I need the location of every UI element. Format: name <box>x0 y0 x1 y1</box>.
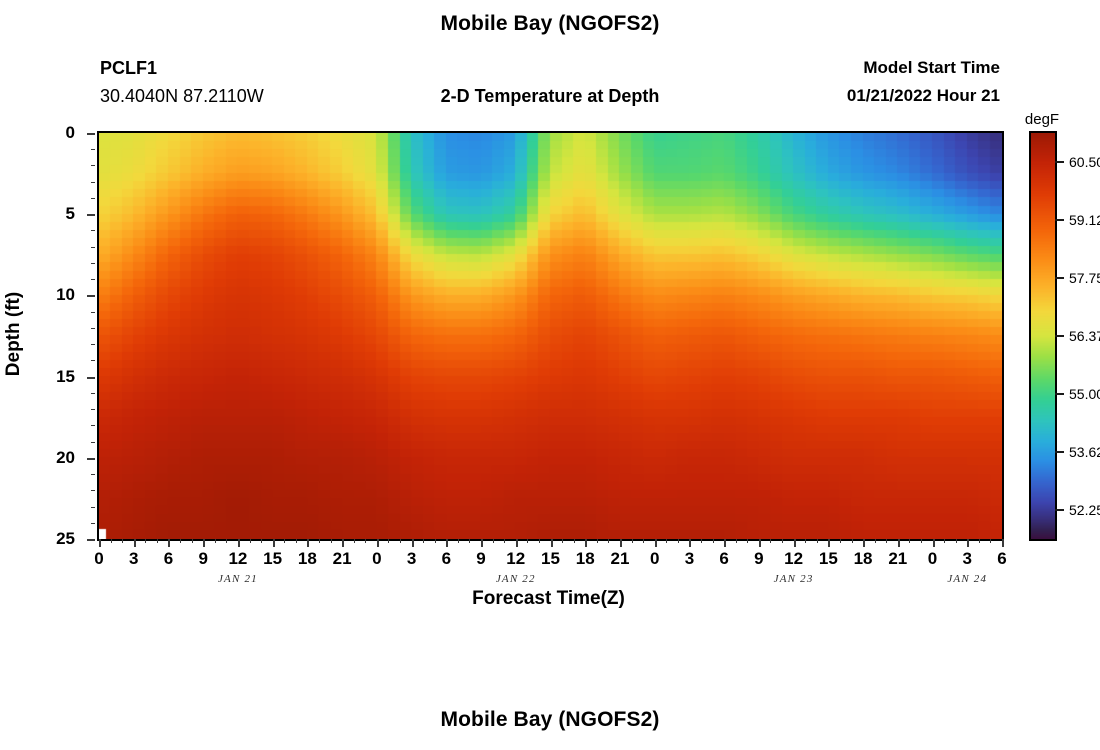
x-minor-tick <box>990 539 991 543</box>
x-minor-tick <box>215 539 216 543</box>
x-major-tick <box>273 539 275 547</box>
x-axis-tick-label: 6 <box>164 549 173 569</box>
colorbar-tick <box>1055 335 1064 337</box>
x-axis-tick-label: 21 <box>888 549 907 569</box>
y-minor-tick <box>91 279 95 280</box>
x-axis-tick-label: 0 <box>94 549 103 569</box>
x-minor-tick <box>435 539 436 543</box>
x-axis-tick-label: 0 <box>650 549 659 569</box>
y-major-tick <box>87 214 95 216</box>
y-major-tick <box>87 458 95 460</box>
x-minor-tick <box>956 539 957 543</box>
x-axis-tick-label: 9 <box>754 549 763 569</box>
x-minor-tick <box>284 539 285 543</box>
x-minor-tick <box>608 539 609 543</box>
x-minor-tick <box>701 539 702 543</box>
x-minor-tick <box>574 539 575 543</box>
x-minor-tick <box>296 539 297 543</box>
y-axis-tick-label: 15 <box>56 367 75 387</box>
x-major-tick <box>412 539 414 547</box>
y-minor-tick <box>91 523 95 524</box>
x-axis-tick-label: 0 <box>928 549 937 569</box>
x-minor-tick <box>180 539 181 543</box>
x-major-tick <box>794 539 796 547</box>
y-minor-tick <box>91 312 95 313</box>
x-axis-tick-label: 3 <box>129 549 138 569</box>
x-minor-tick <box>805 539 806 543</box>
x-axis-tick-label: 6 <box>442 549 451 569</box>
x-minor-tick <box>597 539 598 543</box>
x-minor-tick <box>562 539 563 543</box>
y-minor-tick <box>91 360 95 361</box>
heatmap-plot-area <box>97 131 1004 541</box>
x-minor-tick <box>365 539 366 543</box>
x-minor-tick <box>921 539 922 543</box>
x-minor-tick <box>261 539 262 543</box>
x-major-tick <box>689 539 691 547</box>
x-major-tick <box>516 539 518 547</box>
x-major-tick <box>828 539 830 547</box>
x-major-tick <box>1002 539 1004 547</box>
x-minor-tick <box>493 539 494 543</box>
x-major-tick <box>134 539 136 547</box>
x-axis-tick-label: 12 <box>228 549 247 569</box>
x-major-tick <box>99 539 101 547</box>
colorbar-tick-label: 57.750 <box>1069 270 1100 286</box>
colorbar-tick <box>1055 451 1064 453</box>
x-minor-tick <box>875 539 876 543</box>
x-minor-tick <box>111 539 112 543</box>
y-axis-tick-label: 10 <box>56 285 75 305</box>
x-axis-tick-label: 3 <box>407 549 416 569</box>
x-major-tick <box>481 539 483 547</box>
x-minor-tick <box>354 539 355 543</box>
temperature-heatmap <box>99 133 1002 539</box>
x-axis-tick-label: 9 <box>198 549 207 569</box>
x-minor-tick <box>423 539 424 543</box>
x-axis-date-label: JAN 23 <box>774 573 814 585</box>
x-minor-tick <box>817 539 818 543</box>
y-axis-tick-label: 25 <box>56 529 75 549</box>
x-axis-tick-label: 18 <box>298 549 317 569</box>
x-minor-tick <box>504 539 505 543</box>
y-minor-tick <box>91 230 95 231</box>
x-axis-tick-label: 21 <box>333 549 352 569</box>
colorbar-units-label: degF <box>1007 111 1077 128</box>
colorbar-tick-label: 53.625 <box>1069 444 1100 460</box>
y-minor-tick <box>91 182 95 183</box>
colorbar-tick-label: 60.500 <box>1069 154 1100 170</box>
x-minor-tick <box>192 539 193 543</box>
x-minor-tick <box>713 539 714 543</box>
x-minor-tick <box>643 539 644 543</box>
y-axis-title: Depth (ft) <box>3 292 25 376</box>
y-minor-tick <box>91 393 95 394</box>
x-minor-tick <box>145 539 146 543</box>
x-major-tick <box>168 539 170 547</box>
x-minor-tick <box>122 539 123 543</box>
x-minor-tick <box>678 539 679 543</box>
page-title: Mobile Bay (NGOFS2) <box>0 12 1100 36</box>
x-major-tick <box>203 539 205 547</box>
colorbar-ticks: 60.50059.12557.75056.37555.00053.62552.2… <box>1031 133 1100 539</box>
y-minor-tick <box>91 247 95 248</box>
x-axis-title: Forecast Time(Z) <box>97 588 1000 610</box>
x-major-tick <box>342 539 344 547</box>
x-minor-tick <box>747 539 748 543</box>
x-minor-tick <box>840 539 841 543</box>
x-minor-tick <box>250 539 251 543</box>
colorbar-tick-label: 59.125 <box>1069 212 1100 228</box>
x-minor-tick <box>157 539 158 543</box>
y-minor-tick <box>91 344 95 345</box>
x-axis-tick-label: 15 <box>263 549 282 569</box>
x-minor-tick <box>469 539 470 543</box>
x-axis-date-label: JAN 21 <box>218 573 258 585</box>
x-minor-tick <box>331 539 332 543</box>
x-axis-tick-label: 21 <box>610 549 629 569</box>
x-major-tick <box>446 539 448 547</box>
model-start-time-label: Model Start Time <box>700 58 1000 78</box>
x-major-tick <box>898 539 900 547</box>
y-major-tick <box>87 539 95 541</box>
x-major-tick <box>307 539 309 547</box>
x-axis-tick-label: 15 <box>819 549 838 569</box>
y-major-tick <box>87 295 95 297</box>
footer-title: Mobile Bay (NGOFS2) <box>0 708 1100 732</box>
x-minor-tick <box>979 539 980 543</box>
x-major-tick <box>377 539 379 547</box>
y-minor-tick <box>91 442 95 443</box>
x-major-tick <box>551 539 553 547</box>
x-minor-tick <box>666 539 667 543</box>
x-axis-tick-label: 12 <box>506 549 525 569</box>
colorbar-tick <box>1055 277 1064 279</box>
station-id: PCLF1 <box>100 58 157 79</box>
y-minor-tick <box>91 149 95 150</box>
colorbar-tick <box>1055 161 1064 163</box>
y-axis-tick-label: 0 <box>66 123 75 143</box>
x-minor-tick <box>400 539 401 543</box>
x-minor-tick <box>527 539 528 543</box>
x-minor-tick <box>319 539 320 543</box>
y-minor-tick <box>91 409 95 410</box>
x-minor-tick <box>539 539 540 543</box>
x-axis-tick-label: 6 <box>997 549 1006 569</box>
y-minor-tick <box>91 263 95 264</box>
colorbar-tick-label: 55.000 <box>1069 386 1100 402</box>
y-minor-tick <box>91 474 95 475</box>
x-major-tick <box>933 539 935 547</box>
model-start-time-value: 01/21/2022 Hour 21 <box>700 86 1000 106</box>
x-minor-tick <box>909 539 910 543</box>
y-minor-tick <box>91 490 95 491</box>
y-axis-tick-label: 5 <box>66 204 75 224</box>
x-major-tick <box>759 539 761 547</box>
y-minor-tick <box>91 425 95 426</box>
y-minor-tick <box>91 328 95 329</box>
x-major-tick <box>967 539 969 547</box>
y-minor-tick <box>91 198 95 199</box>
x-minor-tick <box>736 539 737 543</box>
y-minor-tick <box>91 507 95 508</box>
y-axis-tick-label: 20 <box>56 448 75 468</box>
x-minor-tick <box>944 539 945 543</box>
colorbar-tick <box>1055 509 1064 511</box>
x-major-tick <box>585 539 587 547</box>
x-axis-tick-label: 15 <box>541 549 560 569</box>
y-major-tick <box>87 133 95 135</box>
x-minor-tick <box>886 539 887 543</box>
x-axis-tick-label: 9 <box>476 549 485 569</box>
x-major-tick <box>620 539 622 547</box>
x-axis-tick-label: 3 <box>685 549 694 569</box>
x-minor-tick <box>852 539 853 543</box>
x-minor-tick <box>458 539 459 543</box>
x-minor-tick <box>782 539 783 543</box>
colorbar-tick-label: 56.375 <box>1069 328 1100 344</box>
x-axis-date-label: JAN 22 <box>496 573 536 585</box>
x-axis-tick-label: 18 <box>576 549 595 569</box>
x-minor-tick <box>226 539 227 543</box>
x-minor-tick <box>632 539 633 543</box>
x-axis-tick-label: 18 <box>854 549 873 569</box>
x-axis-tick-label: 6 <box>719 549 728 569</box>
x-axis-tick-label: 12 <box>784 549 803 569</box>
x-axis-ticks: 036912151821036912151821036912151821036J… <box>99 539 1002 549</box>
x-major-tick <box>655 539 657 547</box>
y-major-tick <box>87 377 95 379</box>
colorbar-tick <box>1055 219 1064 221</box>
colorbar-tick <box>1055 393 1064 395</box>
colorbar-tick-label: 52.250 <box>1069 502 1100 518</box>
x-minor-tick <box>388 539 389 543</box>
x-minor-tick <box>770 539 771 543</box>
x-major-tick <box>863 539 865 547</box>
y-minor-tick <box>91 165 95 166</box>
x-axis-tick-label: 0 <box>372 549 381 569</box>
x-axis-tick-label: 3 <box>963 549 972 569</box>
y-axis-ticks: 0510152025 <box>87 133 97 539</box>
x-major-tick <box>238 539 240 547</box>
x-axis-date-label: JAN 24 <box>947 573 987 585</box>
x-major-tick <box>724 539 726 547</box>
